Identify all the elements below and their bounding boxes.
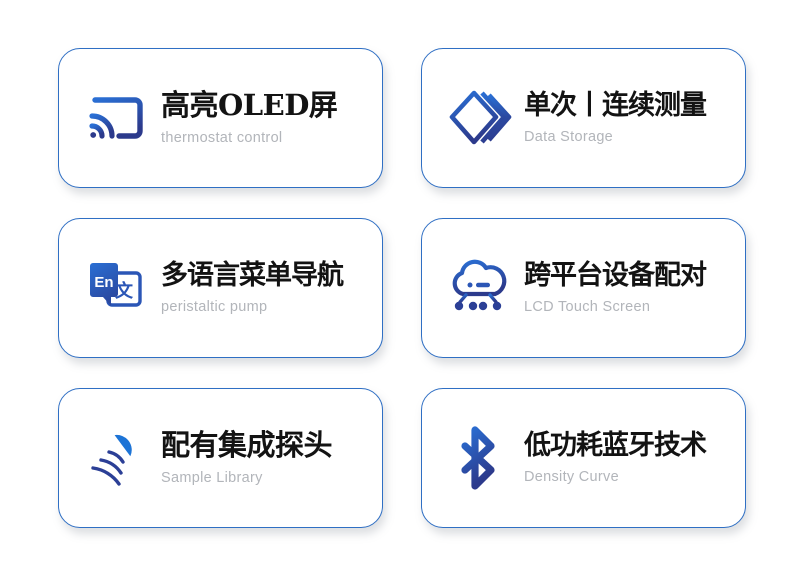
card-subtitle: peristaltic pump	[161, 299, 343, 315]
card-title: 低功耗蓝牙技术	[524, 431, 706, 460]
cast-screen-icon	[77, 79, 155, 157]
card-title: 多语言菜单导航	[161, 261, 343, 290]
feature-card-integrated-probe[interactable]: 配有集成探头 Sample Library	[58, 388, 383, 528]
card-title: 单次丨连续测量	[524, 91, 706, 120]
feature-card-bluetooth[interactable]: 低功耗蓝牙技术 Density Curve	[421, 388, 746, 528]
card-subtitle: Sample Library	[161, 470, 332, 486]
card-subtitle: Data Storage	[524, 129, 706, 145]
card-title: 配有集成探头	[161, 430, 332, 461]
feature-card-multilingual-menu[interactable]: En 文 多语言菜单导航 peristaltic pump	[58, 218, 383, 358]
satellite-dish-icon	[77, 419, 155, 497]
feature-card-grid: 高亮OLED屏 thermostat control	[58, 48, 746, 528]
card-text-block: 低功耗蓝牙技术 Density Curve	[524, 431, 706, 485]
bluetooth-icon	[440, 419, 518, 497]
card-title: 高亮OLED屏	[161, 90, 337, 121]
feature-card-oled-screen[interactable]: 高亮OLED屏 thermostat control	[58, 48, 383, 188]
card-text-block: 多语言菜单导航 peristaltic pump	[161, 261, 343, 315]
card-text-block: 配有集成探头 Sample Library	[161, 430, 332, 486]
card-text-block: 高亮OLED屏 thermostat control	[161, 90, 337, 146]
stacked-diamonds-icon	[440, 79, 518, 157]
cloud-devices-icon	[440, 249, 518, 327]
card-subtitle: Density Curve	[524, 469, 706, 485]
card-subtitle: LCD Touch Screen	[524, 299, 706, 315]
feature-card-device-pairing[interactable]: 跨平台设备配对 LCD Touch Screen	[421, 218, 746, 358]
card-text-block: 跨平台设备配对 LCD Touch Screen	[524, 261, 706, 315]
card-text-block: 单次丨连续测量 Data Storage	[524, 91, 706, 145]
feature-card-measurement-mode[interactable]: 单次丨连续测量 Data Storage	[421, 48, 746, 188]
translate-icon: En 文	[77, 249, 155, 327]
translate-icon-en-label: En	[94, 274, 113, 291]
translate-icon-cn-label: 文	[115, 280, 134, 302]
card-title: 跨平台设备配对	[524, 261, 706, 290]
card-subtitle: thermostat control	[161, 130, 337, 146]
